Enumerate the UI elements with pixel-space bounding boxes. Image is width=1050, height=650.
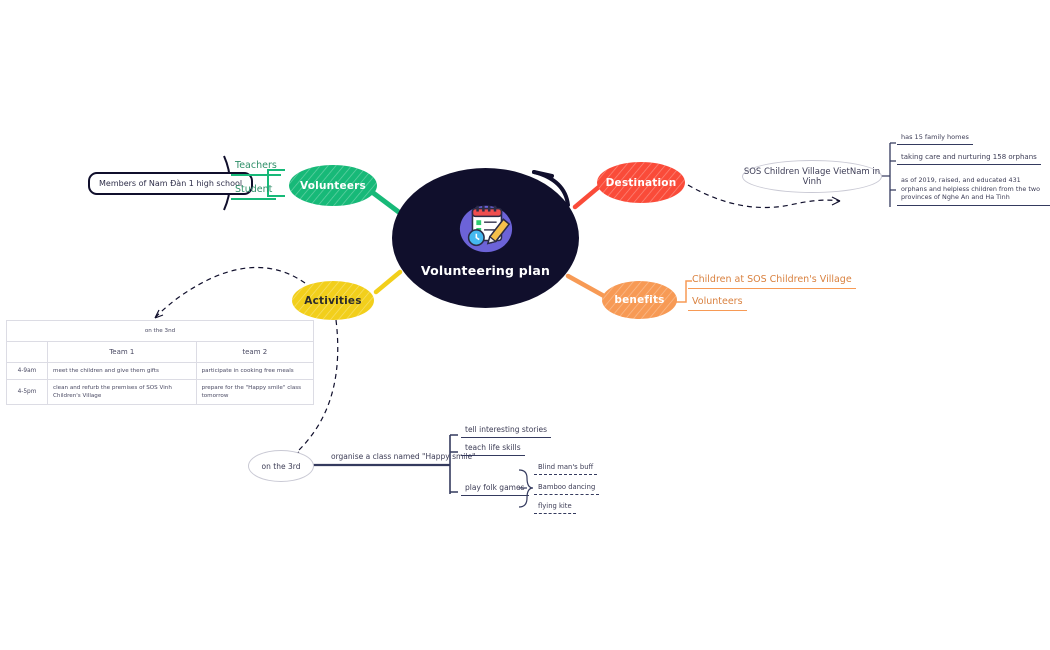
wire-facts-stubs xyxy=(890,143,896,190)
row-1-team2: participate in cooking free meals xyxy=(196,363,313,380)
destination-fact-3[interactable]: as of 2019, raised, and educated 431 orp… xyxy=(897,176,1050,206)
volunteers-item-teachers[interactable]: Teachers xyxy=(231,160,281,176)
wire-activities-table-dashed xyxy=(155,267,305,318)
header-team-1: Team 1 xyxy=(48,342,197,363)
wire-center-accent-tip xyxy=(534,172,552,176)
central-node[interactable]: Volunteering plan xyxy=(392,168,579,308)
page-title: Volunteering plan xyxy=(421,263,550,278)
schedule-title: on the 3nd xyxy=(7,321,314,342)
destination-fact-2[interactable]: taking care and nurturing 158 orphans xyxy=(897,153,1041,165)
arrowhead-activities-table xyxy=(155,310,163,318)
destination-place-oval[interactable]: SOS Children Village VietNam in Vinh xyxy=(742,160,882,193)
branch-volunteers[interactable]: Volunteers xyxy=(289,165,377,206)
benefits-item-volunteers[interactable]: Volunteers xyxy=(688,296,747,311)
game-bamboo-dancing[interactable]: Bamboo dancing xyxy=(534,483,599,495)
wire-volunteers-center xyxy=(372,192,400,213)
wire-destination-center xyxy=(575,186,600,207)
branch-activities-label: Activities xyxy=(304,295,361,307)
day3-class-label[interactable]: organise a class named "Happy smile" xyxy=(327,452,480,464)
day3-node[interactable]: on the 3rd xyxy=(248,450,314,482)
branch-benefits[interactable]: benefits xyxy=(602,281,677,319)
volunteers-item-student[interactable]: Student xyxy=(231,184,276,200)
members-box[interactable]: Members of Nam Đàn 1 high school xyxy=(88,172,253,195)
day3-item-folk-games[interactable]: play folk games xyxy=(461,483,529,496)
arrowhead-destination-sos xyxy=(832,197,840,205)
table-row: 4-5pm clean and refurb the premises of S… xyxy=(7,380,314,405)
wire-benefits-center xyxy=(568,276,604,296)
table-header-row: Team 1 team 2 xyxy=(7,342,314,363)
mindmap-canvas: Volunteering plan Volunteers Destination… xyxy=(0,0,1050,650)
branch-activities[interactable]: Activities xyxy=(292,281,374,320)
game-blind-mans-buff[interactable]: Blind man's buff xyxy=(534,463,597,475)
header-blank xyxy=(7,342,48,363)
row-1-time: 4-9am xyxy=(7,363,48,380)
day3-item-life-skills[interactable]: teach life skills xyxy=(461,443,525,456)
game-flying-kite[interactable]: flying kite xyxy=(534,502,576,514)
day3-item-stories[interactable]: tell interesting stories xyxy=(461,425,551,438)
table-row: 4-9am meet the children and give them gi… xyxy=(7,363,314,380)
wire-activities-center xyxy=(376,272,400,292)
header-team-2: team 2 xyxy=(196,342,313,363)
branch-destination[interactable]: Destination xyxy=(597,162,685,203)
branch-benefits-label: benefits xyxy=(614,294,664,306)
branch-volunteers-label: Volunteers xyxy=(300,180,366,192)
benefits-item-children[interactable]: Children at SOS Children's Village xyxy=(688,274,856,289)
row-2-team2: prepare for the "Happy smile" class tomo… xyxy=(196,380,313,405)
branch-destination-label: Destination xyxy=(606,177,677,189)
schedule-table[interactable]: on the 3nd Team 1 team 2 4-9am meet the … xyxy=(6,320,314,405)
row-2-team1: clean and refurb the premises of SOS Vin… xyxy=(48,380,197,405)
calendar-checklist-icon xyxy=(455,198,517,256)
row-1-team1: meet the children and give them gifts xyxy=(48,363,197,380)
row-2-time: 4-5pm xyxy=(7,380,48,405)
destination-fact-1[interactable]: has 15 family homes xyxy=(897,133,973,145)
table-title-row: on the 3nd xyxy=(7,321,314,342)
